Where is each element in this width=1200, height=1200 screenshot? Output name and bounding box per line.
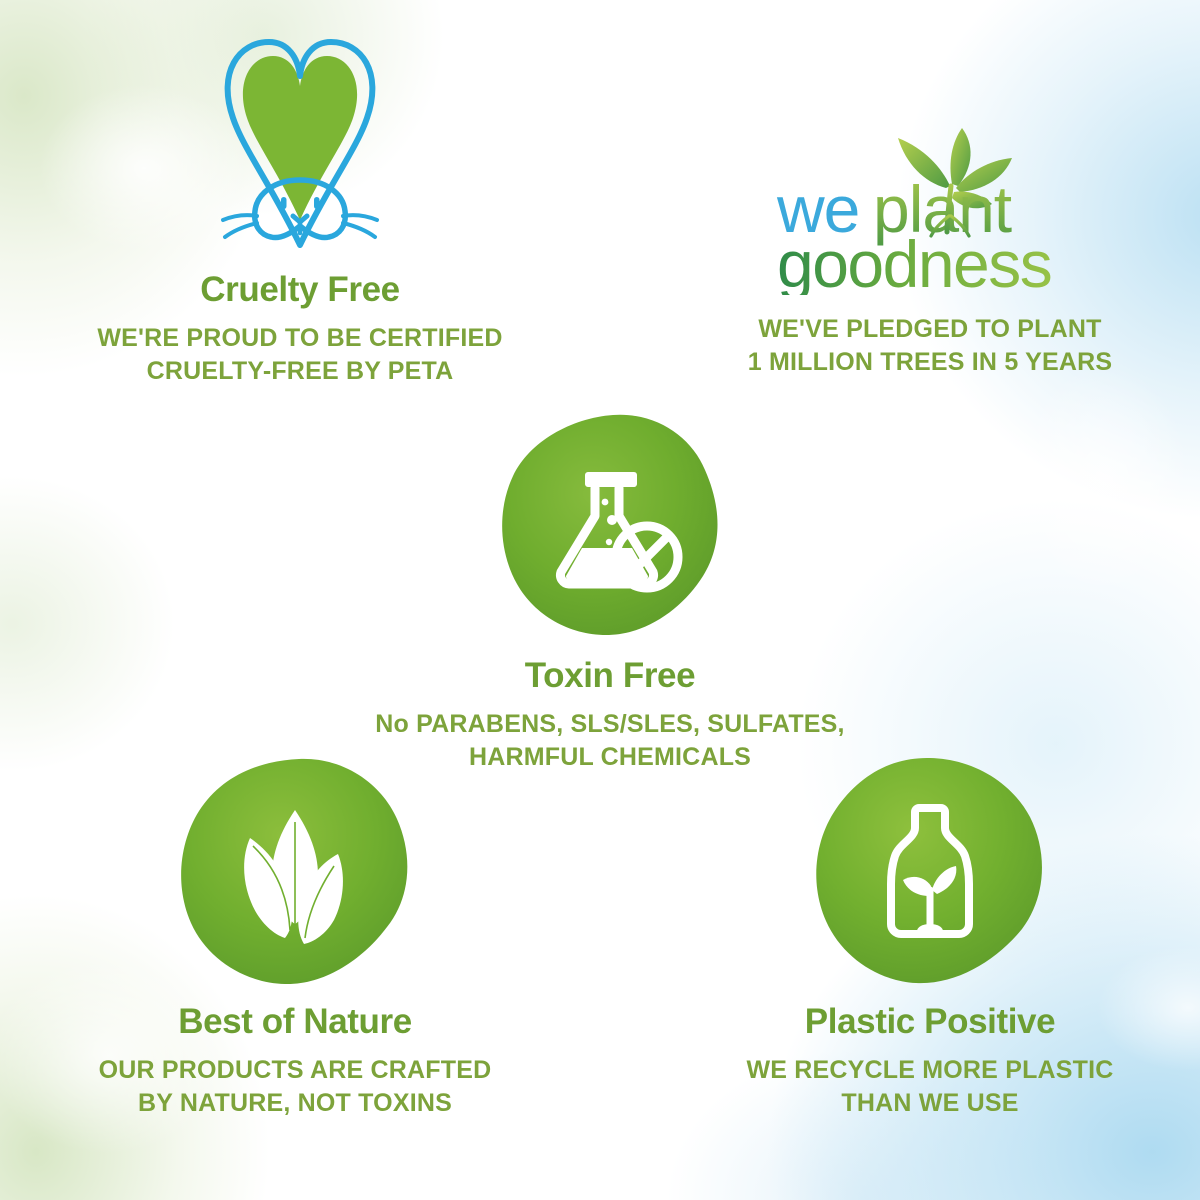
badge-subtitle-line: WE'RE PROUD TO BE CERTIFIED — [40, 322, 560, 355]
badge-plastic-positive: Plastic Positive WE RECYCLE MORE PLASTIC… — [670, 755, 1190, 1119]
badge-title: Best of Nature — [35, 1002, 555, 1042]
badge-title: Plastic Positive — [670, 1002, 1190, 1042]
badge-subtitle-line: OUR PRODUCTS ARE CRAFTED — [35, 1054, 555, 1087]
badge-subtitle-line: CRUELTY-FREE BY PETA — [40, 355, 560, 388]
badge-subtitle-line: WE'VE PLEDGED TO PLANT — [680, 313, 1180, 346]
badge-subtitle-line: BY NATURE, NOT TOXINS — [35, 1087, 555, 1120]
badge-subtitle-line: 1 MILLION TREES IN 5 YEARS — [680, 346, 1180, 379]
badge-cruelty-free: Cruelty Free WE'RE PROUD TO BE CERTIFIED… — [40, 30, 560, 387]
badge-title: Cruelty Free — [40, 270, 560, 310]
svg-text:goodness: goodness — [777, 227, 1051, 295]
badge-subtitle-line: WE RECYCLE MORE PLASTIC — [670, 1054, 1190, 1087]
badge-subtitle: WE'VE PLEDGED TO PLANT 1 MILLION TREES I… — [680, 313, 1180, 378]
we-plant-goodness-logo: we plant goodness — [680, 120, 1180, 295]
flask-no-entry-icon — [325, 410, 895, 640]
badge-subtitle-line: No PARABENS, SLS/SLES, SULFATES, — [325, 708, 895, 741]
badge-subtitle: OUR PRODUCTS ARE CRAFTED BY NATURE, NOT … — [35, 1054, 555, 1119]
bottle-sprout-icon — [670, 755, 1190, 990]
badge-we-plant-goodness: we plant goodness WE'VE PLEDGED TO PLANT… — [680, 120, 1180, 378]
bunny-heart-icon — [40, 30, 560, 260]
badge-subtitle: WE'RE PROUD TO BE CERTIFIED CRUELTY-FREE… — [40, 322, 560, 387]
badge-subtitle-line: THAN WE USE — [670, 1087, 1190, 1120]
badge-best-of-nature: Best of Nature OUR PRODUCTS ARE CRAFTED … — [35, 755, 555, 1119]
badge-title: Toxin Free — [325, 656, 895, 696]
badge-toxin-free: Toxin Free No PARABENS, SLS/SLES, SULFAT… — [325, 410, 895, 773]
three-leaves-icon — [35, 755, 555, 990]
badge-subtitle: WE RECYCLE MORE PLASTIC THAN WE USE — [670, 1054, 1190, 1119]
